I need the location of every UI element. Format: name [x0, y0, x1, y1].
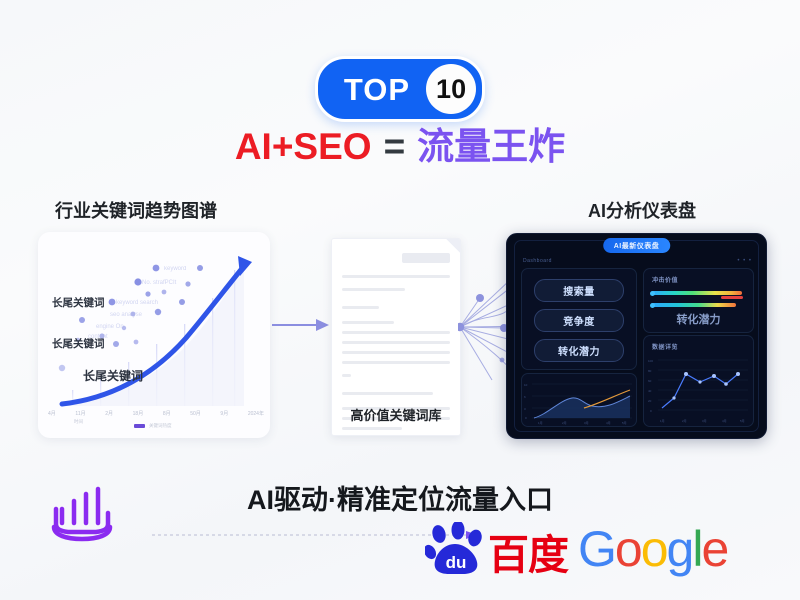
x-tick: 2月 — [105, 410, 113, 417]
bar-chart-icon — [46, 483, 118, 545]
headline-operator: = — [372, 126, 418, 167]
svg-text:5月: 5月 — [740, 419, 745, 423]
headline-left: AI+SEO — [235, 126, 372, 167]
trend-label-1: 长尾关键词 — [52, 295, 105, 310]
trend-x-axis-label: 时间 — [74, 419, 83, 425]
trend-label-3: 长尾关键词 — [83, 367, 143, 384]
metrics-panel: 搜索量 竞争度 转化潜力 — [521, 268, 637, 370]
baidu-paw-icon: du — [425, 522, 487, 576]
trend-chart-svg: keyword No. strafPCIt keyword search seo… — [38, 232, 270, 438]
top-badge-number: 10 — [426, 64, 476, 114]
detail-chart-panel[interactable]: 数据详览 — [643, 335, 754, 427]
gradient-alert-tag — [721, 296, 743, 299]
svg-text:40: 40 — [648, 389, 652, 393]
x-tick: 11月 — [75, 410, 85, 417]
x-tick: 50月 — [190, 410, 201, 417]
svg-text:0: 0 — [650, 409, 652, 413]
svg-text:3月: 3月 — [584, 421, 589, 425]
area-chart-panel[interactable]: 1月2月 3月4月 5月 106 30 — [521, 373, 637, 427]
impact-panel-overlay-label: 转化潜力 — [644, 311, 753, 327]
headline-right: 流量王炸 — [417, 126, 565, 167]
baidu-latin-text: du — [446, 553, 467, 572]
svg-text:keyword: keyword — [164, 266, 186, 272]
x-tick: 8月 — [163, 410, 171, 417]
google-letter-e: e — [701, 521, 727, 577]
gradient-bar-2 — [652, 303, 736, 307]
bottom-slogan: AI驱动·精准定位流量入口 — [0, 478, 800, 517]
svg-text:10: 10 — [524, 383, 528, 387]
x-tick: 18月 — [133, 410, 144, 417]
gradient-marker-1 — [650, 291, 655, 296]
svg-text:1月: 1月 — [538, 421, 543, 425]
google-letter-G: G — [578, 521, 615, 577]
poster-canvas: TOP 10 AI+SEO=流量王炸 行业关键词趋势图谱 AI分析仪表盘 — [0, 0, 800, 600]
trend-legend: 关键词热度 — [134, 423, 172, 429]
svg-text:80: 80 — [648, 369, 652, 373]
metric-pill-search-volume[interactable]: 搜索量 — [534, 279, 624, 302]
ai-dashboard-card[interactable]: AI最新仪表盘 Dashboard • • • 搜索量 竞争度 转化潜力 — [506, 233, 767, 439]
caption-ai-dashboard: AI分析仪表盘 — [588, 197, 696, 223]
google-letter-o2: o — [641, 521, 667, 577]
doc-folded-corner-icon — [446, 239, 460, 253]
x-tick: 4月 — [48, 410, 56, 417]
impact-panel-title: 冲击价值 — [652, 275, 678, 284]
gradient-bar-1 — [652, 291, 742, 295]
svg-text:100: 100 — [648, 359, 653, 363]
svg-text:5月: 5月 — [622, 421, 627, 425]
legend-label: 关键词热度 — [149, 423, 172, 429]
google-letter-g: g — [667, 521, 693, 577]
top-badge-label: TOP — [344, 74, 426, 105]
svg-text:engine On: engine On — [96, 324, 124, 330]
google-logo[interactable]: Google — [578, 524, 727, 574]
caption-trend-chart: 行业关键词趋势图谱 — [55, 197, 217, 223]
dashboard-badge: AI最新仪表盘 — [603, 238, 671, 253]
dashboard-menu-icon[interactable]: • • • — [737, 258, 752, 264]
svg-text:4月: 4月 — [606, 421, 611, 425]
svg-text:3月: 3月 — [702, 419, 707, 423]
detail-line-svg: 10080 6040 200 1月2月 3月4月 5月 — [644, 336, 753, 426]
svg-text:3: 3 — [524, 407, 526, 411]
metric-pill-competition[interactable]: 竞争度 — [534, 309, 624, 332]
x-tick: 2024年 — [248, 410, 264, 417]
trend-chart-card[interactable]: keyword No. strafPCIt keyword search seo… — [38, 232, 270, 438]
trend-x-axis: 4月 11月 2月 18月 8月 50月 9月 2024年 — [48, 410, 264, 417]
svg-text:1月: 1月 — [660, 419, 665, 423]
svg-text:keyword search: keyword search — [116, 300, 158, 306]
svg-text:6: 6 — [524, 395, 526, 399]
legend-swatch — [134, 424, 145, 428]
baidu-cn-text: 百度 — [488, 535, 568, 576]
svg-text:0: 0 — [525, 416, 527, 420]
svg-text:20: 20 — [648, 399, 652, 403]
svg-text:4月: 4月 — [722, 419, 727, 423]
keyword-library-title: 高价值关键词库 — [332, 405, 460, 424]
trend-label-2: 长尾关键词 — [52, 336, 105, 351]
arrow-right-icon — [272, 318, 330, 332]
x-tick: 9月 — [220, 410, 228, 417]
svg-text:2月: 2月 — [562, 421, 567, 425]
metric-pill-conversion[interactable]: 转化潜力 — [534, 339, 624, 362]
search-engine-logos: du 百度 Google — [425, 522, 727, 576]
gradient-marker-2 — [650, 303, 655, 308]
impact-value-panel[interactable]: 冲击价值 转化潜力 — [643, 268, 754, 333]
svg-text:No. strafPCIt: No. strafPCIt — [142, 280, 177, 286]
doc-header-chip — [402, 253, 450, 263]
svg-text:2月: 2月 — [682, 419, 687, 423]
dashboard-breadcrumb: Dashboard — [523, 258, 552, 264]
top-badge-container: TOP 10 — [0, 56, 800, 122]
svg-text:60: 60 — [648, 379, 652, 383]
keyword-library-card[interactable]: 高价值关键词库 — [331, 238, 461, 436]
baidu-logo[interactable]: du 百度 — [425, 522, 568, 576]
top-badge[interactable]: TOP 10 — [315, 56, 485, 122]
google-letter-o1: o — [615, 521, 641, 577]
svg-text:seo analyse: seo analyse — [110, 312, 143, 318]
page-title: AI+SEO=流量王炸 — [0, 128, 800, 165]
area-chart-svg: 1月2月 3月4月 5月 106 30 — [522, 374, 636, 426]
